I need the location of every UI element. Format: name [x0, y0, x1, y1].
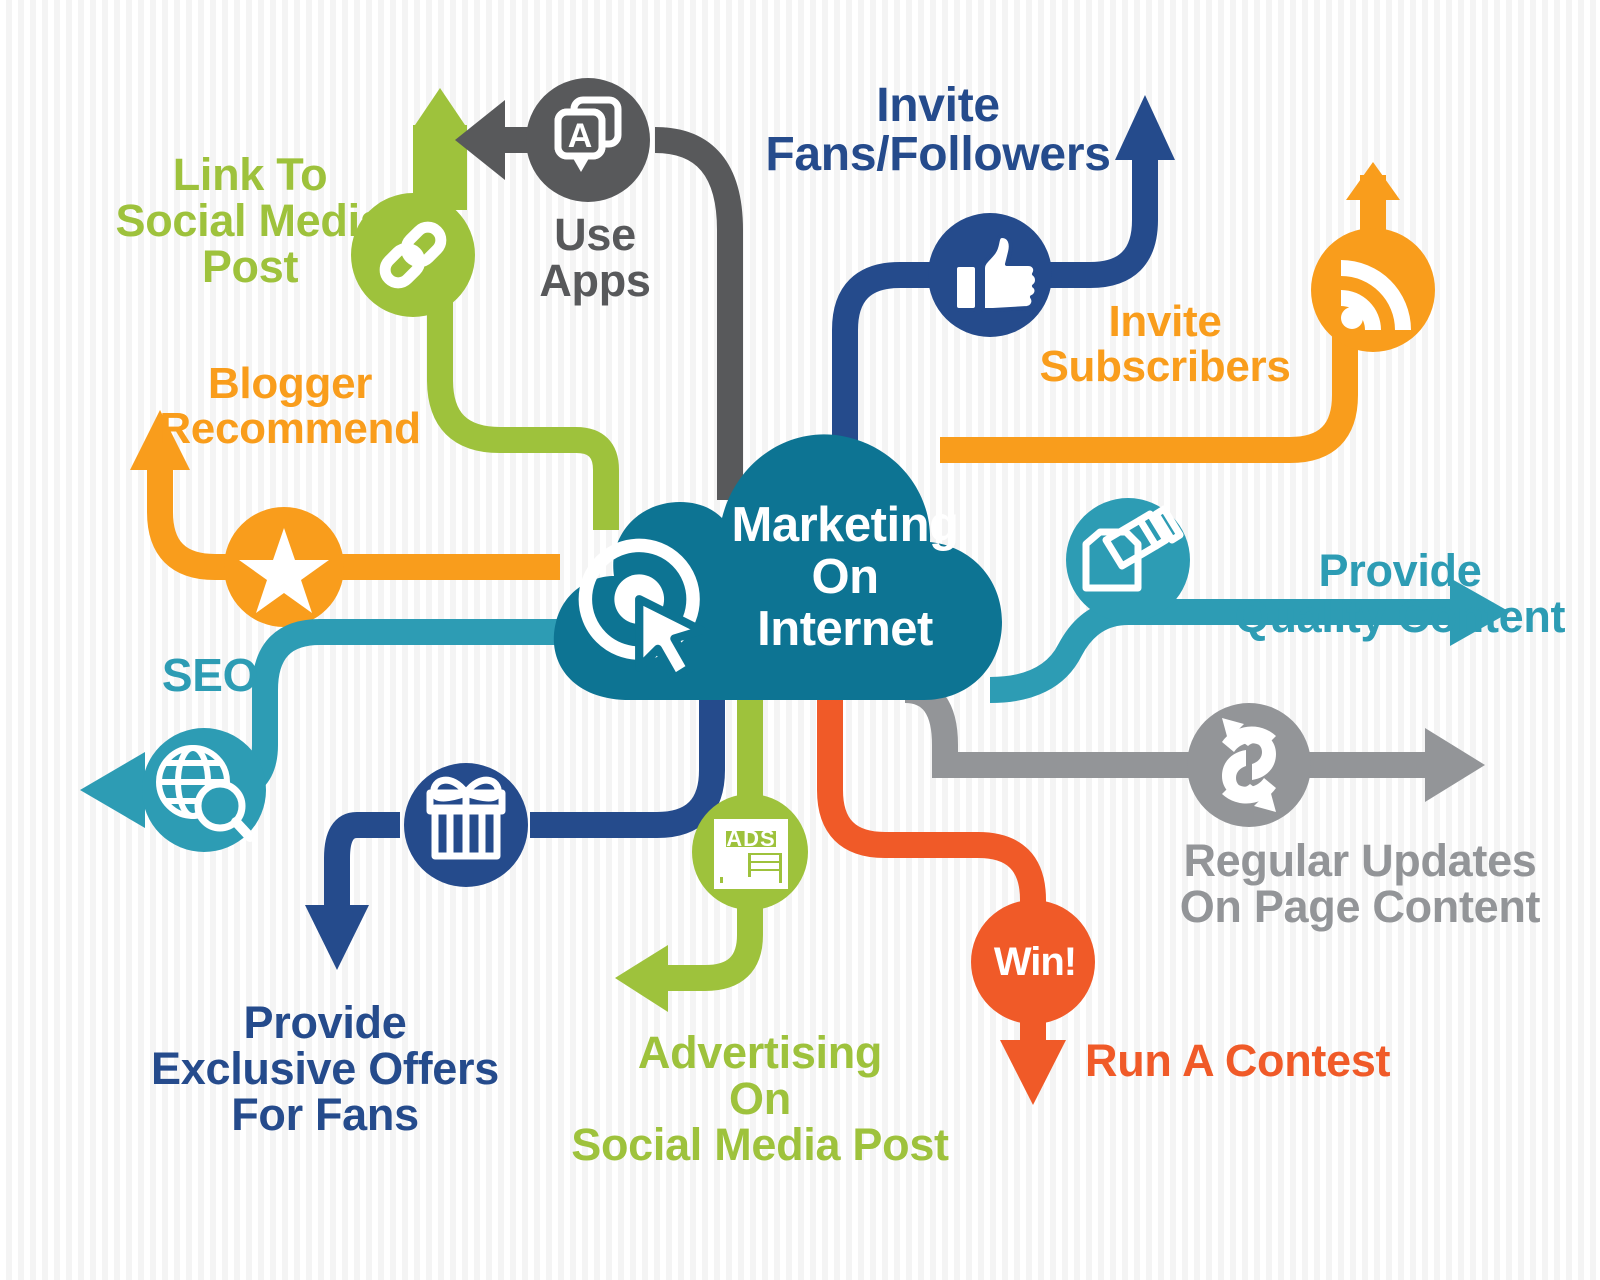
center-node-cloud[interactable]: Marketing On Internet	[540, 410, 1020, 710]
win-badge-label: Win!	[975, 940, 1095, 985]
label-provide-exclusive-offers-for-fans[interactable]: Provide Exclusive Offers For Fans	[120, 1000, 530, 1138]
label-blogger-recommend[interactable]: Blogger Recommend	[135, 362, 445, 452]
label-invite-subscribers[interactable]: Invite Subscribers	[1010, 300, 1320, 390]
infographic-canvas: A	[0, 0, 1600, 1280]
label-seo[interactable]: SEO	[150, 652, 270, 699]
label-invite-fans-followers[interactable]: Invite Fans/Followers	[748, 82, 1128, 180]
label-use-apps[interactable]: Use Apps	[505, 212, 685, 304]
svg-text:A: A	[568, 117, 593, 155]
center-node-label: Marketing On Internet	[695, 500, 995, 656]
branch-wire-regular-updates-on-page-content	[905, 690, 1485, 827]
label-link-to-social-media-post[interactable]: Link To Social Media Post	[85, 152, 415, 290]
label-provide-quality-content[interactable]: Provide Quality Content	[1200, 548, 1600, 640]
branch-wire-provide-exclusive-offers-for-fans	[305, 700, 712, 970]
label-run-a-contest[interactable]: Run A Contest	[1085, 1038, 1435, 1084]
svg-text:ADS: ADS	[726, 826, 775, 851]
label-advertising-on-social-media-post[interactable]: Advertising On Social Media Post	[545, 1030, 975, 1168]
label-regular-updates-on-page-content[interactable]: Regular Updates On Page Content	[1130, 838, 1590, 930]
